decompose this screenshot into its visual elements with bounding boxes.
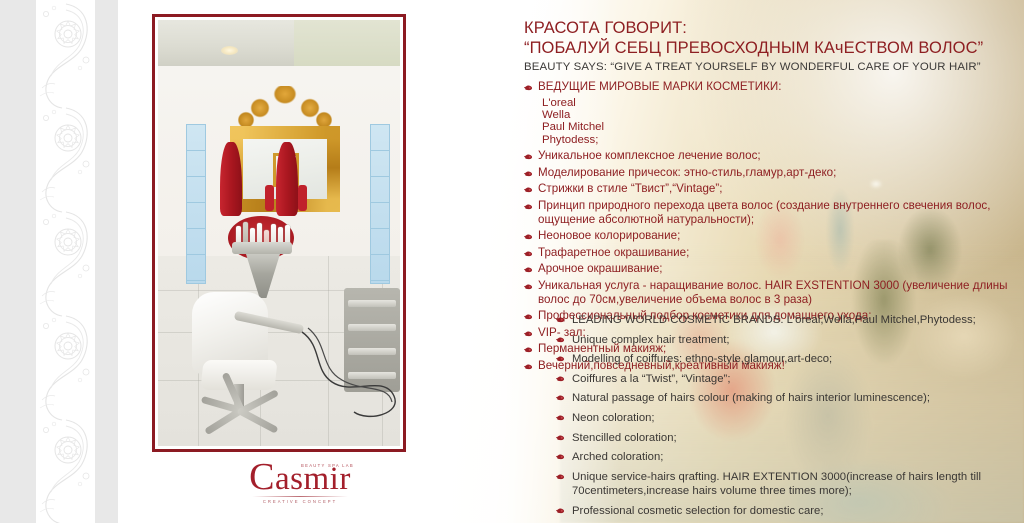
logo-initial: C [249, 456, 275, 498]
list-item-label: Stencilled coloration; [572, 431, 1024, 445]
list-item: Стрижки в стиле “Твист”,“Vintage”; [524, 182, 1018, 196]
list-item: Natural passage of hairs colour (making … [556, 391, 1024, 405]
logo-tagline-top: BEAUTY SPA LAB [301, 463, 354, 468]
floral-bullet-icon [524, 363, 533, 371]
salon-photo [158, 20, 400, 446]
salon-photo-frame [152, 14, 406, 452]
brand-item: Paul Mitchel [542, 121, 1018, 133]
list-item-label: Моделирование причесок: этно-стиль,гламу… [538, 166, 1018, 180]
list-item-label: LEADING WORLD COSMETIC BRANDS: L'oreal,W… [572, 313, 1024, 327]
services-list-en: LEADING WORLD COSMETIC BRANDS: L'oreal,W… [556, 313, 1024, 523]
list-item-label: Professional cosmetic selection for dome… [572, 504, 1024, 518]
list-item-label: Трафаретное окрашивание; [538, 246, 1018, 260]
list-item: Unique service-hairs qrafting. HAIR EXTE… [556, 470, 1024, 499]
photo-ceiling-right [294, 20, 400, 68]
list-item: Coiffures a la “Twist”, “Vintage”; [556, 372, 1024, 386]
floral-bullet-icon [524, 84, 533, 92]
list-item: ВЕДУЩИЕ МИРОВЫЕ МАРКИ КОСМЕТИКИ: [524, 80, 1018, 94]
floral-bullet-icon [556, 507, 565, 515]
brand-item: L'oreal [542, 97, 1018, 109]
poster-page: Casmir BEAUTY SPA LAB CREATIVE CONCEPT К… [0, 0, 1024, 523]
list-item-label: Unique complex hair treatment; [572, 333, 1024, 347]
floral-bullet-icon [524, 346, 533, 354]
logo-divider [252, 496, 348, 497]
list-item-label: Уникальная услуга - наращивание волос. H… [538, 279, 1018, 306]
list-item-label: Natural passage of hairs colour (making … [572, 391, 1024, 405]
floral-bullet-icon [524, 186, 533, 194]
brand-item: Phytodess; [542, 134, 1018, 146]
brands-sublist: L'oreal Wella Paul Mitchel Phytodess; [542, 97, 1018, 147]
floral-bullet-icon [524, 313, 533, 321]
floral-bullet-icon [556, 473, 565, 481]
floral-bullet-icon [524, 250, 533, 258]
photo-shelf-left [186, 124, 206, 284]
list-item-label: Modelling of coiffures: ethno-style,glam… [572, 352, 1024, 366]
floral-bullet-icon [524, 283, 533, 291]
list-item-label: Coiffures a la “Twist”, “Vintage”; [572, 372, 1024, 386]
photo-downlight [221, 46, 238, 55]
floral-bullet-icon [556, 414, 565, 422]
list-item-label: Принцип природного перехода цвета волос … [538, 199, 1018, 226]
list-item: Трафаретное окрашивание; [524, 246, 1018, 260]
list-item: Уникальная услуга - наращивание волос. H… [524, 279, 1018, 306]
headline-ru-line1: КРАСОТА ГОВОРИТ: [524, 18, 1014, 38]
floral-bullet-icon [556, 434, 565, 442]
floral-bullet-icon [556, 375, 565, 383]
list-item: Неоновое колорирование; [524, 229, 1018, 243]
list-item-label: Неоновое колорирование; [538, 229, 1018, 243]
list-item-label: Arched coloration; [572, 450, 1024, 464]
list-item: Arched coloration; [556, 450, 1024, 464]
list-item: Unique complex hair treatment; [556, 333, 1024, 347]
floral-bullet-icon [524, 153, 533, 161]
decorative-left-band [0, 0, 118, 523]
photo-power-cords [298, 326, 400, 438]
floral-bullet-icon [556, 355, 565, 363]
list-item-label: Стрижки в стиле “Твист”,“Vintage”; [538, 182, 1018, 196]
floral-bullet-icon [556, 336, 565, 344]
headline-ru-line2: “ПОБАЛУЙ СЕБЦ ПРЕВОСХОДНЫМ КАчЕСТВОМ ВОЛ… [524, 38, 1014, 58]
photo-red-column-right [276, 142, 298, 216]
headline-en-line: BEAUTY SAYS: “GIVE A TREAT YOURSELF BY W… [524, 59, 1014, 75]
headline-block: КРАСОТА ГОВОРИТ: “ПОБАЛУЙ СЕБЦ ПРЕВОСХОД… [524, 18, 1014, 75]
list-item: Арочное окрашивание; [524, 262, 1018, 276]
list-item: Neon coloration; [556, 411, 1024, 425]
list-item-label: Арочное окрашивание; [538, 262, 1018, 276]
photo-chair-base [200, 404, 284, 438]
logo-tagline-bottom: CREATIVE CONCEPT [236, 499, 364, 504]
floral-bullet-icon [524, 233, 533, 241]
brand-item: Wella [542, 109, 1018, 121]
floral-bullet-icon [556, 394, 565, 402]
photo-counter [232, 242, 292, 254]
photo-shelf-right [370, 124, 390, 284]
list-item: Professional cosmetic selection for dome… [556, 504, 1024, 518]
floral-bullet-icon [524, 266, 533, 274]
list-item: Modelling of coiffures: ethno-style,glam… [556, 352, 1024, 366]
list-item: LEADING WORLD COSMETIC BRANDS: L'oreal,W… [556, 313, 1024, 327]
list-item-label: Уникальное комплексное лечение волос; [538, 149, 1018, 163]
band-grey-right [95, 0, 118, 523]
floral-bullet-icon [524, 170, 533, 178]
list-item-label: ВЕДУЩИЕ МИРОВЫЕ МАРКИ КОСМЕТИКИ: [538, 80, 1018, 94]
floral-bullet-icon [524, 203, 533, 211]
list-item: Stencilled coloration; [556, 431, 1024, 445]
list-item: Уникальное комплексное лечение волос; [524, 149, 1018, 163]
list-item-label: Unique service-hairs qrafting. HAIR EXTE… [572, 470, 1024, 499]
floral-bullet-icon [556, 316, 565, 324]
list-item: Моделирование причесок: этно-стиль,гламу… [524, 166, 1018, 180]
floral-bullet-icon [556, 453, 565, 461]
photo-red-column-left [220, 142, 242, 216]
list-item: Принцип природного перехода цвета волос … [524, 199, 1018, 226]
paisley-pattern-icon [34, 0, 98, 523]
floral-bullet-icon [524, 330, 533, 338]
list-item-label: Neon coloration; [572, 411, 1024, 425]
brand-logo: Casmir BEAUTY SPA LAB CREATIVE CONCEPT [236, 460, 364, 510]
band-grey-left [0, 0, 36, 523]
